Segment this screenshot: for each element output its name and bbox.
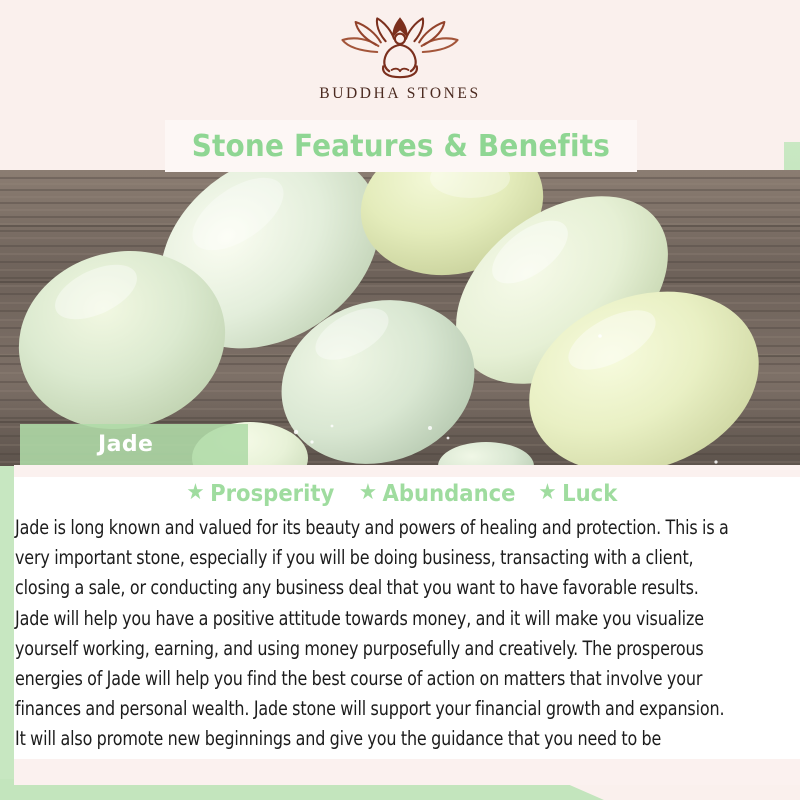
stone-name-band: Jade — [20, 424, 248, 465]
page-title: Stone Features & Benefits — [192, 129, 610, 164]
infographic-page: BUDDHA STONES — [0, 0, 800, 800]
stone-description: Jade is long known and valued for its be… — [15, 513, 731, 785]
star-icon: ★ — [538, 482, 556, 504]
page-title-panel: Stone Features & Benefits — [165, 120, 637, 172]
keyword-label: Abundance — [383, 481, 516, 507]
lotus-meditation-icon — [334, 16, 466, 82]
star-icon: ★ — [359, 482, 377, 504]
brand-header: BUDDHA STONES — [0, 0, 800, 120]
keyword-prosperity: ★ Prosperity — [186, 481, 334, 507]
keyword-luck: ★ Luck — [538, 481, 617, 507]
stone-photo — [0, 170, 800, 466]
content-bottom-tint — [14, 759, 800, 785]
keyword-abundance: ★ Abundance — [359, 481, 516, 507]
stone-name: Jade — [98, 432, 153, 457]
content-top-tint — [14, 465, 800, 477]
star-icon: ★ — [186, 482, 204, 504]
content-card: ★ Prosperity ★ Abundance ★ Luck Jade is … — [14, 465, 800, 785]
keyword-label: Prosperity — [210, 481, 334, 507]
brand-name: BUDDHA STONES — [319, 85, 480, 103]
keyword-label: Luck — [562, 481, 617, 507]
decor-left-green-strip — [0, 463, 14, 800]
keyword-list: ★ Prosperity ★ Abundance ★ Luck — [14, 477, 786, 511]
